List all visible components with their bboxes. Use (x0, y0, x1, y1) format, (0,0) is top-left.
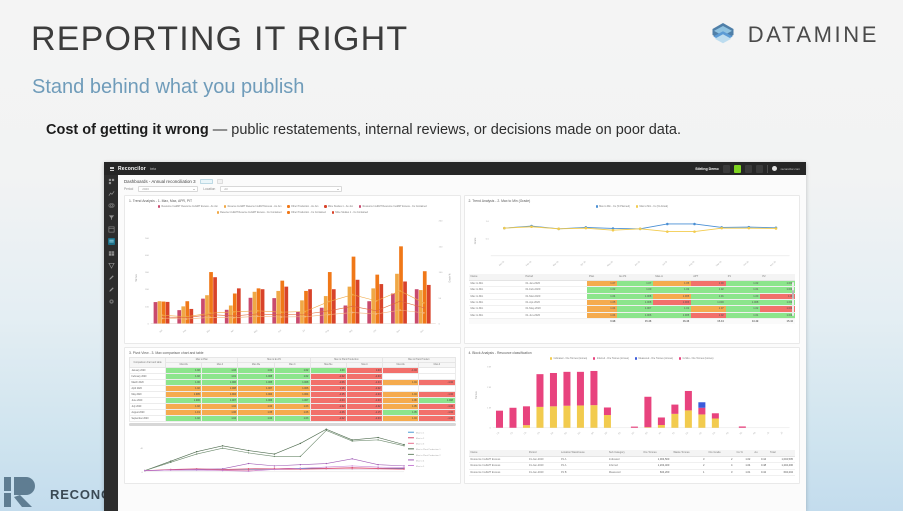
legend-item[interactable]: Other Production - As Jun (287, 205, 318, 208)
table-cell: 1.04 (383, 416, 419, 422)
share-icon[interactable] (745, 165, 752, 173)
left-nav-rail[interactable] (104, 175, 118, 511)
table-block-detail[interactable]: NamePeriodLocation WarehouseSub Category… (469, 450, 796, 476)
table-row[interactable]: Resource Inv&MT Excess01-Jan-2020Pit BMe… (469, 469, 796, 475)
legend-item[interactable]: Max to Min - Cu (% Actual) (636, 205, 668, 208)
svg-text:Mar: Mar (206, 329, 211, 334)
svg-text:May 20: May 20 (607, 261, 614, 268)
svg-text:G2: G2 (699, 431, 703, 435)
datamine-hex-icon (708, 20, 738, 50)
edit-icon[interactable] (108, 274, 115, 281)
legend-item[interactable]: Indicated - Ore Tonnes (tonnes) (550, 357, 587, 360)
legend-item[interactable]: Measured - Ore Tonnes (tonnes) (635, 357, 673, 360)
legend-item[interactable]: Resource Inv&MT Resource Inv&MT Excess -… (359, 205, 427, 208)
svg-text:Feb 20: Feb 20 (525, 261, 532, 268)
svg-text:100: 100 (439, 272, 443, 274)
panel-grid: 1. Trend Analysis - 1. Max, Max, APR, PI… (118, 195, 806, 488)
svg-text:0.5: 0.5 (485, 239, 489, 241)
chart-trend-value[interactable]: 0100200300400500JanFebMarAprMayJunJulAug… (129, 216, 456, 340)
svg-text:Oct 20: Oct 20 (742, 260, 749, 267)
user-name: Stirling Demo (695, 167, 718, 171)
datamine-logo: DATAMINE (708, 20, 879, 50)
svg-text:Aug 20: Aug 20 (688, 260, 696, 267)
svg-text:J1: J1 (767, 431, 771, 435)
grid-icon[interactable] (723, 165, 730, 173)
table-icon[interactable] (108, 250, 115, 257)
topbar-divider (767, 165, 768, 173)
svg-text:Nov: Nov (397, 329, 402, 334)
svg-text:Max to 5: Max to 5 (416, 464, 425, 467)
svg-text:3 M: 3 M (487, 366, 491, 368)
pencil-icon[interactable] (108, 286, 115, 293)
svg-text:Max to 1: Max to 1 (416, 431, 425, 434)
layout-icon[interactable] (108, 226, 115, 233)
svg-text:Tonnes: Tonnes (135, 273, 138, 281)
filter-select-location[interactable]: All (220, 186, 342, 192)
body-statement-rest: — public restatements, internal reviews,… (209, 122, 681, 138)
legend-trend-value: Resource Inv&MT Resource Inv&MT Excess -… (129, 205, 456, 214)
table-cell: 15.44 (691, 319, 726, 325)
svg-text:1 M: 1 M (487, 407, 491, 409)
save-button[interactable] (200, 179, 213, 184)
panel-title-trend-value: 1. Trend Analysis - 1. Max, Max, APR, PI… (129, 199, 456, 203)
table-cell (469, 319, 524, 325)
legend-item[interactable]: Reserve Inv&MT Reserve Inv&MT Excess - C… (217, 211, 282, 214)
account-label: reconcilor.com (781, 167, 800, 171)
filter-select-period[interactable]: 2020 (138, 186, 198, 192)
svg-text:40: 40 (140, 448, 143, 450)
table-cell: Resource Inv&MT Excess (469, 469, 527, 475)
svg-text:0: 0 (439, 324, 441, 326)
data-icon[interactable] (108, 238, 115, 245)
chart-pivot-multiline[interactable]: 04080Max to 1Max to 2Max to 3Max to Plan… (129, 426, 456, 480)
svg-text:Nov 20: Nov 20 (770, 261, 777, 268)
svg-text:300: 300 (145, 272, 149, 274)
avatar[interactable] (772, 166, 777, 171)
table-cell: 1 (671, 469, 706, 475)
table-row-label: September 2020 (130, 416, 166, 422)
dashboard-icon[interactable] (108, 178, 115, 185)
svg-text:0: 0 (489, 428, 491, 430)
svg-text:D4: D4 (591, 431, 595, 435)
legend-item[interactable]: Max to Min - Cu (% Planned) (596, 205, 630, 208)
panel-title-block: 4. Block Analysis - Resource classificat… (469, 351, 796, 355)
svg-text:Max to 2: Max to 2 (416, 437, 425, 440)
svg-text:Apr: Apr (230, 329, 235, 334)
table-row[interactable]: September 20201.021.041.041.03-1.02-1.04… (130, 416, 456, 422)
svg-text:50: 50 (439, 298, 442, 300)
table-cell: 16.46 (653, 319, 691, 325)
hamburger-icon[interactable] (110, 167, 114, 171)
svg-text:D3: D3 (577, 431, 581, 435)
panel-trend-grade[interactable]: 2. Trend Analysis - 2. Max to Min (Grade… (464, 195, 801, 344)
svg-text:Dec: Dec (420, 329, 425, 334)
dashboard-title: Dashboards - Annual reconciliation 3 (124, 179, 196, 184)
tag-icon[interactable] (108, 262, 115, 269)
table-cell (523, 319, 587, 325)
table-cell: 0.98 (587, 319, 617, 325)
table-grade-detail[interactable]: NamePeriodPlanEx-PitMax-AAPTP1P2Max to M… (469, 274, 796, 324)
page-subtitle: Stand behind what you publish (32, 76, 304, 99)
svg-text:150: 150 (439, 246, 443, 248)
svg-text:C2: C2 (510, 431, 514, 435)
table-header-cell[interactable]: Comparison chart and table (130, 358, 166, 368)
table-cell: 13.49 (726, 319, 761, 325)
table-cell: -1.02 (310, 416, 346, 422)
settings-icon[interactable] (756, 165, 763, 173)
dashboard-screenshot[interactable]: Reconcilor beta Stirling Demo reconcilor… (104, 162, 806, 511)
svg-text:G1: G1 (685, 431, 689, 435)
svg-text:Max to Plant Production 2: Max to Plant Production 2 (416, 453, 441, 456)
table-cell: 1.04 (238, 416, 274, 422)
panel-title-pivot: 3. Pivot View - 3. Max comparison chart … (129, 351, 456, 355)
svg-text:Grade %: Grade % (449, 272, 452, 282)
svg-text:80: 80 (140, 426, 143, 427)
svg-text:2 M: 2 M (487, 387, 491, 389)
legend-item[interactable]: Mine Studies 1 - As Jun (324, 205, 353, 208)
table-cell: 1.02 (166, 416, 202, 422)
datamine-wordmark: DATAMINE (748, 22, 879, 48)
svg-text:Jun: Jun (278, 329, 283, 333)
svg-text:Oct: Oct (373, 329, 378, 334)
table-pivot[interactable]: Comparison chart and tableMax to PlanMax… (129, 357, 456, 422)
table-cell: 0.42 (752, 469, 768, 475)
svg-text:200: 200 (439, 221, 443, 223)
filter-icon[interactable] (108, 214, 115, 221)
table-cell: 15.44 (760, 319, 795, 325)
svg-text:500: 500 (145, 238, 149, 240)
svg-text:Max to 3: Max to 3 (416, 442, 425, 445)
panel-trend-value[interactable]: 1. Trend Analysis - 1. Max, Max, APR, PI… (124, 195, 461, 344)
table-total-row: 0.9815.4616.4615.4413.4915.44 (469, 319, 796, 325)
svg-text:H3: H3 (753, 431, 757, 435)
dashboard-canvas[interactable]: Dashboards - Annual reconciliation 3 Per… (118, 175, 806, 511)
svg-text:Sep: Sep (349, 329, 354, 334)
svg-text:Jul: Jul (302, 329, 306, 333)
table-cell: Pit B (559, 469, 607, 475)
table-cell: Measured (607, 469, 641, 475)
svg-text:1.0: 1.0 (485, 221, 489, 223)
filter-label-period: Period (124, 187, 133, 191)
svg-text:J2: J2 (780, 431, 784, 435)
legend-item[interactable]: Inferred - Ore Tonnes (tonnes) (593, 357, 629, 360)
table-cell: 01-Jan-2020 (527, 469, 559, 475)
table-cell: 1.01 (735, 469, 753, 475)
legend-item[interactable]: Reserve Inv&MT Reserve Inv&MT Excess - A… (224, 205, 281, 208)
svg-text:Apr 20: Apr 20 (579, 260, 586, 267)
svg-text:0: 0 (142, 471, 144, 473)
svg-text:Jul 20: Jul 20 (662, 261, 668, 267)
app-subtitle: beta (150, 167, 156, 171)
panel-block[interactable]: 4. Block Analysis - Resource classificat… (464, 347, 801, 484)
svg-text:H2: H2 (739, 431, 743, 435)
legend-item[interactable]: In-Situ - Ore Tonnes (tonnes) (679, 357, 713, 360)
dashboard-header: Dashboards - Annual reconciliation 3 (118, 175, 806, 186)
legend-trend-grade: Max to Min - Cu (% Planned) Max to Min -… (469, 205, 796, 208)
svg-text:Sep 20: Sep 20 (715, 261, 722, 268)
svg-text:F1: F1 (658, 431, 662, 435)
table-scrollbar[interactable] (792, 282, 794, 316)
svg-text:G3: G3 (712, 431, 716, 435)
reconcilor-r-icon (2, 465, 42, 509)
panel-pivot[interactable]: 3. Pivot View - 3. Max comparison chart … (124, 347, 461, 484)
svg-text:E3: E3 (645, 431, 649, 435)
more-button[interactable] (217, 179, 223, 184)
svg-text:C4: C4 (537, 431, 541, 435)
panel-title-trend-grade: 2. Trend Analysis - 2. Max to Min (Grade… (469, 199, 796, 203)
legend-item[interactable]: Other Production - Cu Contained (287, 211, 325, 214)
chart-block-analysis[interactable]: 01 M2 M3 MC1C2C3C4D1D2D3D4D5E1E2E3F1F2G1… (469, 362, 796, 450)
svg-text:F2: F2 (672, 431, 676, 435)
svg-text:Mar 20: Mar 20 (552, 260, 560, 267)
svg-text:D5: D5 (604, 431, 608, 435)
svg-text:D2: D2 (564, 431, 568, 435)
body-statement-lead: Cost of getting it wrong (46, 122, 209, 138)
table-cell: 604,204 (768, 469, 795, 475)
legend-block: Indicated - Ore Tonnes (tonnes) Inferred… (469, 357, 796, 360)
table-cell: 604,200 (641, 469, 671, 475)
filter-bar[interactable]: Period 2020 Location All (118, 186, 806, 195)
svg-text:Tonnes: Tonnes (474, 390, 477, 398)
svg-text:E2: E2 (631, 431, 635, 435)
table-cell: -1.02 (419, 416, 455, 422)
svg-text:Aug: Aug (325, 328, 330, 333)
settings-gear-icon[interactable] (108, 298, 115, 305)
app-topbar: Reconcilor beta Stirling Demo reconcilor… (104, 162, 806, 175)
page-title: REPORTING IT RIGHT (31, 20, 408, 59)
svg-text:Grade: Grade (473, 237, 476, 244)
svg-text:400: 400 (145, 255, 149, 257)
app-name: Reconcilor (118, 166, 146, 172)
table-cell: 1.03 (274, 416, 310, 422)
legend-item[interactable]: Resource Inv&MT Resource Inv&MT Excess -… (158, 205, 218, 208)
table-cell: 1.04 (202, 416, 238, 422)
table-cell: 15.46 (617, 319, 653, 325)
legend-item[interactable]: Mine Studies 1 - Cu Contained (332, 211, 368, 214)
svg-text:Max to Plant Production 1: Max to Plant Production 1 (416, 448, 441, 451)
svg-text:Jun 20: Jun 20 (634, 261, 641, 267)
svg-text:Jan: Jan (159, 329, 164, 333)
svg-text:H1: H1 (726, 431, 730, 435)
svg-text:D1: D1 (550, 431, 554, 435)
svg-text:0: 0 (148, 324, 150, 326)
svg-text:Feb: Feb (183, 329, 188, 334)
svg-text:Max to 4: Max to 4 (416, 459, 425, 462)
svg-text:200: 200 (145, 289, 149, 291)
svg-text:C1: C1 (496, 431, 500, 435)
analytics-icon[interactable] (108, 190, 115, 197)
svg-text:100: 100 (145, 306, 149, 308)
filter-label-location: Location (203, 187, 215, 191)
svg-text:May: May (254, 329, 259, 334)
table-cell: -1.04 (346, 416, 382, 422)
highlight-icon[interactable] (734, 165, 741, 173)
svg-text:Jan 20: Jan 20 (498, 261, 505, 267)
body-statement: Cost of getting it wrong — public restat… (46, 122, 681, 138)
table-cell: 3 (706, 469, 734, 475)
svg-text:E1: E1 (618, 431, 622, 435)
svg-text:C3: C3 (523, 431, 527, 435)
reconcile-icon[interactable] (108, 202, 115, 209)
chart-trend-grade[interactable]: 0.51.0Jan 20Feb 20Mar 20Apr 20May 20Jun … (469, 210, 796, 272)
